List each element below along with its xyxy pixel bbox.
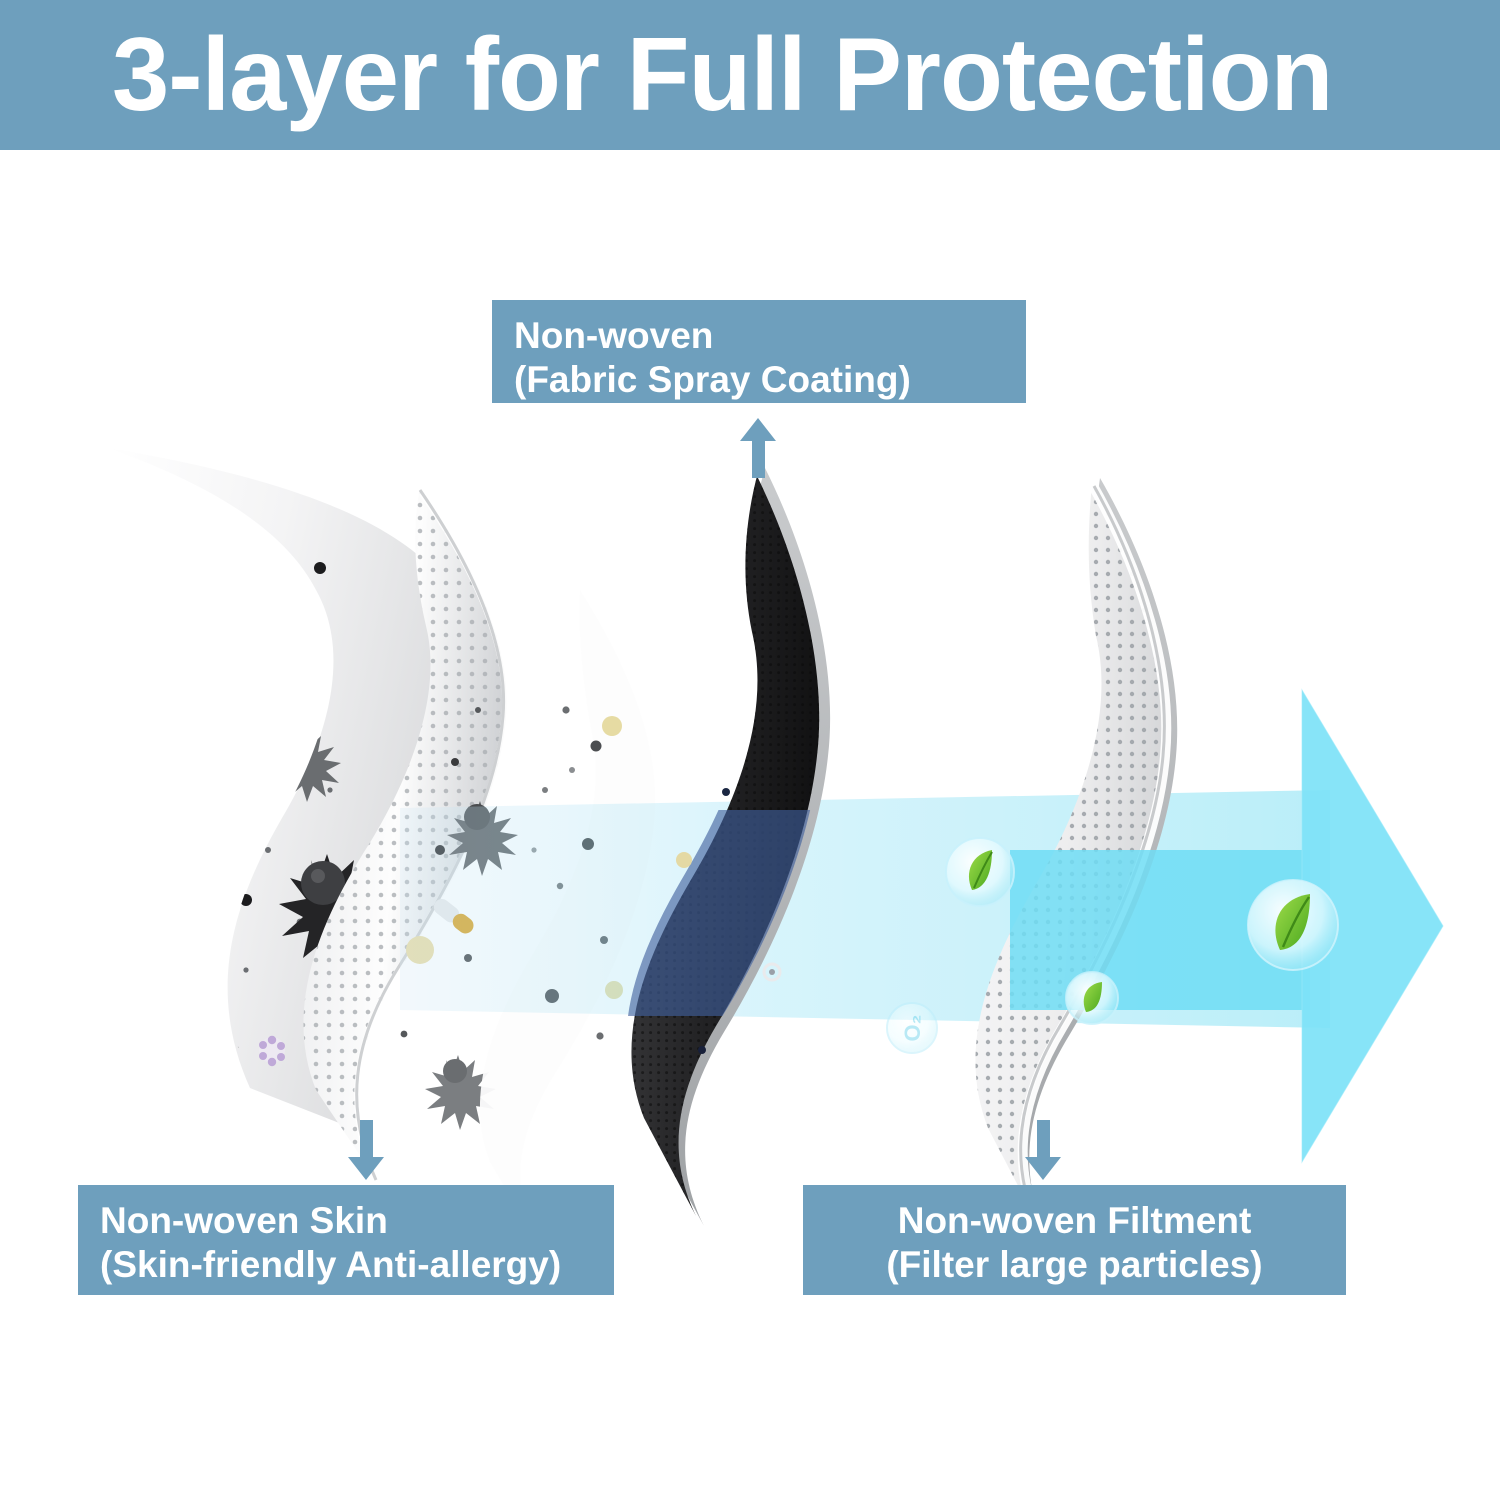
callout-spray-line1: Non-woven: [514, 314, 1004, 358]
arrow-head: [1025, 1157, 1061, 1180]
callout-skin-line2: (Skin-friendly Anti-allergy): [100, 1243, 592, 1287]
arrow-down-filter-icon: [1025, 1120, 1061, 1180]
svg-text:O₂: O₂: [900, 1015, 925, 1042]
clean-air-arrow: [1010, 685, 1445, 1162]
mask-layer-diagram: O₂ Non-woven (Fabric Spray Coating) Non-…: [0, 150, 1500, 1500]
callout-non-woven-filtment[interactable]: Non-woven Filtment (Filter large particl…: [803, 1185, 1346, 1295]
arrow-stem: [360, 1120, 373, 1160]
callout-non-woven-skin[interactable]: Non-woven Skin (Skin-friendly Anti-aller…: [78, 1185, 614, 1295]
callout-spray-coating[interactable]: Non-woven (Fabric Spray Coating): [492, 300, 1026, 403]
callout-filter-line1: Non-woven Filtment: [825, 1199, 1324, 1243]
header-banner: 3-layer for Full Protection: [0, 0, 1500, 150]
callout-skin-line1: Non-woven Skin: [100, 1199, 592, 1243]
callout-spray-line2: (Fabric Spray Coating): [514, 358, 1004, 402]
page-title: 3-layer for Full Protection: [112, 23, 1332, 127]
arrow-stem: [752, 438, 765, 478]
arrow-stem: [1037, 1120, 1050, 1160]
arrow-head: [348, 1157, 384, 1180]
o2-bubble-icon: O₂: [887, 1003, 937, 1053]
arrow-up-spray-icon: [740, 418, 776, 478]
callout-filter-line2: (Filter large particles): [825, 1243, 1324, 1287]
leaf-bubble-icon: [1248, 880, 1338, 970]
leaf-bubble-icon: [946, 838, 1014, 906]
bacteria-cluster-icon: [203, 816, 247, 861]
leaf-bubble-icon: [1066, 972, 1118, 1024]
arrow-down-skin-icon: [348, 1120, 384, 1180]
